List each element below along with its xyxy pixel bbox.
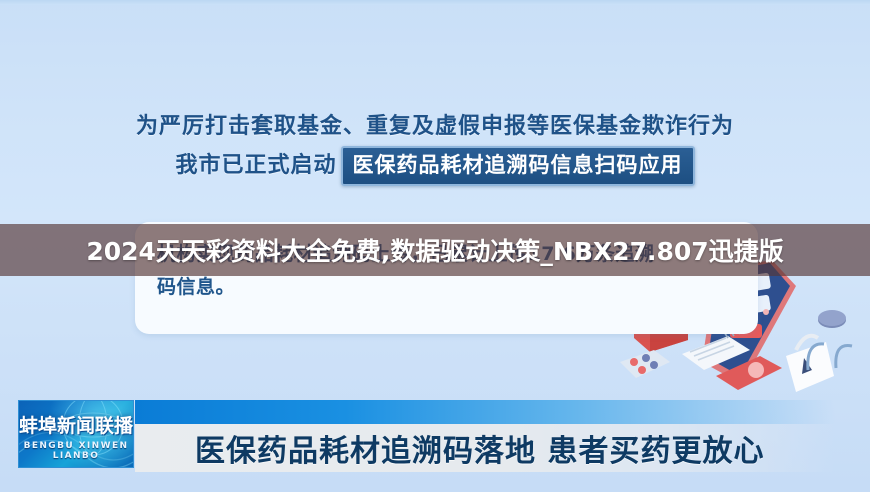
top-edge-strip xyxy=(0,0,870,5)
screenshot-stage: 为严厉打击套取基金、重复及虚假申报等医保基金欺诈行为 我市已正式启动 医保药品耗… xyxy=(0,0,870,492)
watermark-band: 2024天天彩资料大全免费,数据驱动决策_NBX27.807迅捷版 xyxy=(0,224,870,276)
headline-highlight-chip: 医保药品耗材追溯码信息扫码应用 xyxy=(341,146,695,186)
news-banner-topbar xyxy=(135,400,835,424)
news-banner-strip: 医保药品耗材追溯码落地 患者买药更放心 xyxy=(135,424,835,472)
shopping-bag-icon xyxy=(786,336,834,392)
channel-logo-cn: 蚌埠新闻联播 xyxy=(19,411,133,438)
channel-logo: 蚌埠新闻联播 BENGBU XINWEN LIANBO xyxy=(18,400,134,468)
pill-blister-icon xyxy=(620,350,670,378)
news-banner-title: 医保药品耗材追溯码落地 患者买药更放心 xyxy=(135,426,764,470)
headline-block: 为严厉打击套取基金、重复及虚假申报等医保基金欺诈行为 我市已正式启动 医保药品耗… xyxy=(0,108,870,186)
headline-line-2: 我市已正式启动 医保药品耗材追溯码信息扫码应用 xyxy=(0,146,870,186)
channel-logo-en: BENGBU XINWEN LIANBO xyxy=(19,441,133,461)
watermark-text: 2024天天彩资料大全免费,数据驱动决策_NBX27.807迅捷版 xyxy=(86,232,783,268)
stethoscope-icon xyxy=(818,310,846,328)
headline-line-1: 为严厉打击套取基金、重复及虚假申报等医保基金欺诈行为 xyxy=(0,108,870,146)
headline-line-2-prefix: 我市已正式启动 xyxy=(175,147,336,185)
